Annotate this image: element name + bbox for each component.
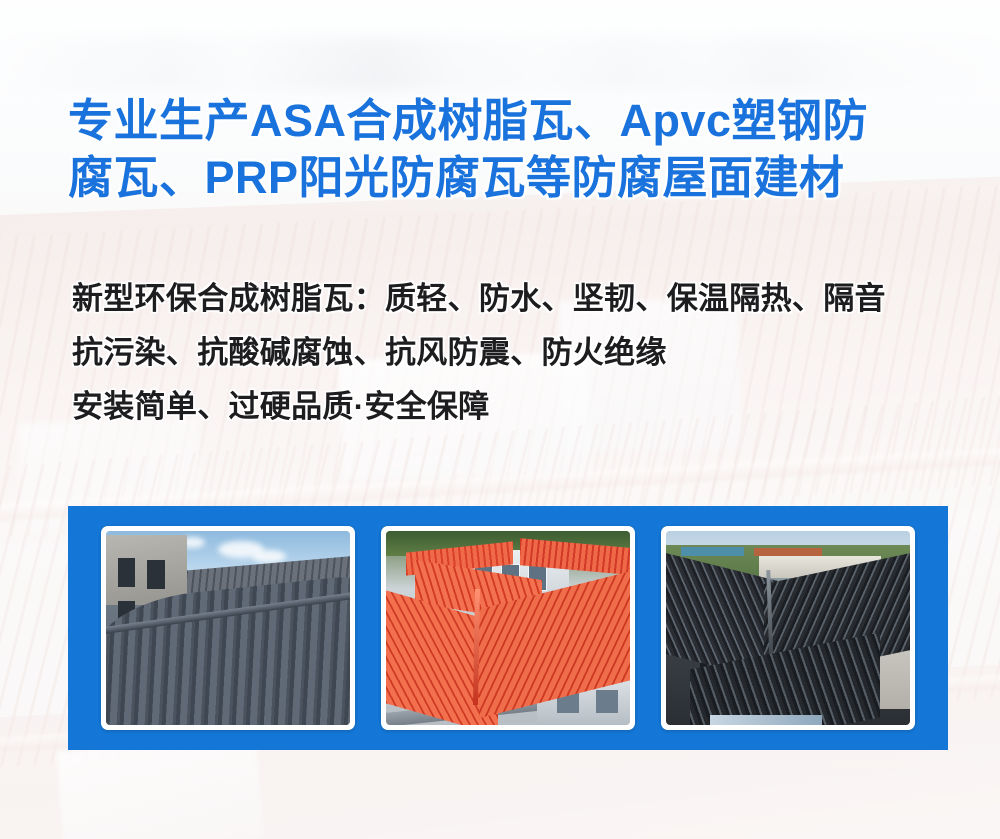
- photo-black-corrugated-roof: [666, 531, 910, 725]
- product-banner: 专业生产ASA合成树脂瓦、Apvc塑钢防 腐瓦、PRP阳光防腐瓦等防腐屋面建材 …: [0, 0, 1000, 839]
- photo1-window: [147, 560, 164, 589]
- photo3-blue-roof: [681, 547, 744, 557]
- photo-frame-2: [381, 526, 635, 730]
- photo3-edge-strip: [710, 715, 822, 725]
- subheadline-line-1: 新型环保合成树脂瓦：质轻、防水、坚韧、保温隔热、隔音: [72, 272, 972, 326]
- subheadline-line-2: 抗污染、抗酸碱腐蚀、抗风防震、防火绝缘: [72, 326, 972, 380]
- photo-red-tile-roof: [386, 531, 630, 725]
- photo1-window: [118, 558, 135, 587]
- headline: 专业生产ASA合成树脂瓦、Apvc塑钢防 腐瓦、PRP阳光防腐瓦等防腐屋面建材: [68, 92, 958, 206]
- photo3-red-roof: [754, 548, 822, 556]
- photo-grey-barrel-tile-roof: [106, 531, 350, 725]
- subheadline: 新型环保合成树脂瓦：质轻、防水、坚韧、保温隔热、隔音 抗污染、抗酸碱腐蚀、抗风防…: [72, 272, 972, 434]
- headline-line-2: 腐瓦、PRP阳光防腐瓦等防腐屋面建材: [68, 149, 958, 206]
- banner-content: 专业生产ASA合成树脂瓦、Apvc塑钢防 腐瓦、PRP阳光防腐瓦等防腐屋面建材 …: [0, 0, 1000, 839]
- subheadline-line-3: 安装简单、过硬品质·安全保障: [72, 380, 972, 434]
- photo-gallery-band: [68, 506, 948, 750]
- headline-line-1: 专业生产ASA合成树脂瓦、Apvc塑钢防: [68, 92, 958, 149]
- photo-frame-3: [661, 526, 915, 730]
- photo2-window: [596, 690, 618, 713]
- photo-frame-1: [101, 526, 355, 730]
